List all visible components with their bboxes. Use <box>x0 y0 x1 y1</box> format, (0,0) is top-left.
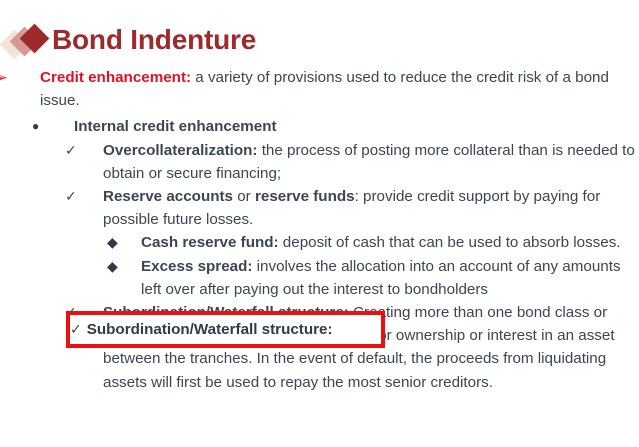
overcollateralization-term: Overcollateralization: <box>103 142 257 159</box>
subordination-term-highlighted: Subordination/Waterfall structure: <box>87 321 333 338</box>
diamond-bullet-icon: ◆ <box>107 231 118 254</box>
three-diamonds-icon <box>4 28 50 58</box>
list-item-excess-spread: ◆ Excess spread: involves the allocation… <box>124 255 639 301</box>
reserve-accounts-conjunction: or <box>233 188 255 205</box>
internal-credit-enhancement-label: Internal credit enhancement <box>74 115 639 138</box>
list-item-cash-reserve-fund: ◆ Cash reserve fund: deposit of cash tha… <box>124 231 639 254</box>
reserve-accounts-term-a: Reserve accounts <box>103 188 233 205</box>
list-item-overcollateralization: ✓ Overcollateralization: the process of … <box>84 139 639 185</box>
slide-title-bar: Bond Indenture <box>0 18 639 62</box>
dot-bullet-icon: ● <box>32 115 39 138</box>
highlight-callout-text: ✓Subordination/Waterfall structure: <box>70 317 400 343</box>
list-item-reserve-accounts: ✓ Reserve accounts or reserve funds: pro… <box>84 185 639 231</box>
cash-reserve-fund-body: deposit of cash that can be used to abso… <box>279 234 621 251</box>
diamond-bullet-icon: ◆ <box>107 255 118 278</box>
check-bullet-icon: ✓ <box>65 139 77 162</box>
list-item-credit-enhancement: ➢ Credit enhancement: a variety of provi… <box>18 66 639 112</box>
reserve-accounts-term-b: reserve funds <box>255 188 355 205</box>
credit-enhancement-term: Credit enhancement: <box>40 69 191 86</box>
arrow-bullet-icon: ➢ <box>0 66 8 89</box>
page-title: Bond Indenture <box>52 18 256 62</box>
check-bullet-icon: ✓ <box>65 185 77 208</box>
excess-spread-term: Excess spread: <box>141 258 252 275</box>
list-item-internal-credit-enhancement: ● Internal credit enhancement <box>52 115 639 138</box>
cash-reserve-fund-term: Cash reserve fund: <box>141 234 279 251</box>
check-bullet-icon: ✓ <box>70 321 87 337</box>
